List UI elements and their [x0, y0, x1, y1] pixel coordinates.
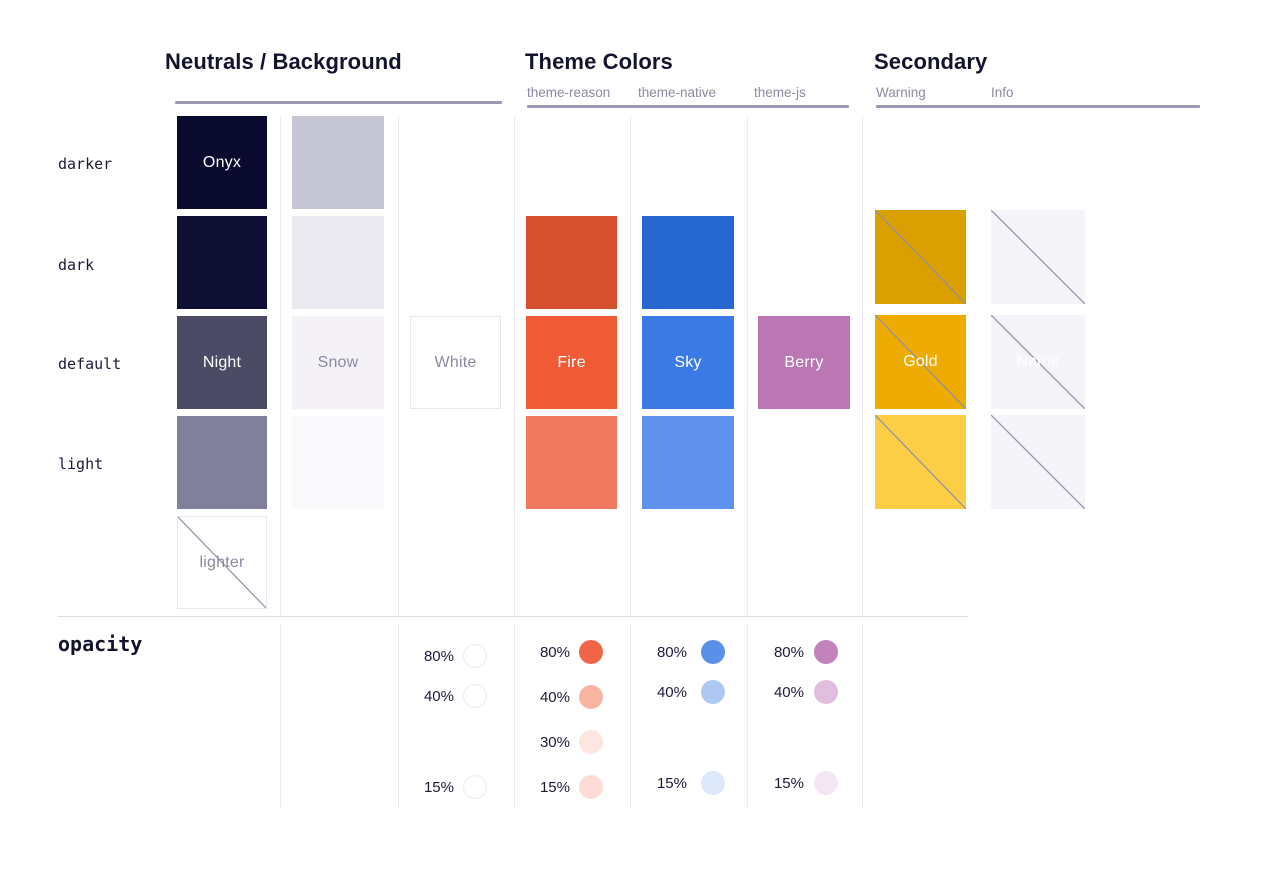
- section-title-neutrals: Neutrals / Background: [165, 49, 402, 75]
- swatch-onyx-default[interactable]: Night: [177, 316, 267, 409]
- opacity-pct-fire-80: 80%: [514, 644, 570, 661]
- opacity-pct-sky-15: 15%: [631, 775, 687, 792]
- opacity-dot-berry-40[interactable]: [814, 680, 838, 704]
- diagonal-slash-icon: [178, 517, 266, 608]
- swatch-white-default[interactable]: White: [410, 316, 501, 409]
- section-title-theme: Theme Colors: [525, 49, 673, 75]
- row-label-darker: darker: [58, 155, 112, 173]
- opacity-dot-fire-40[interactable]: [579, 685, 603, 709]
- opacity-pct-sky-80: 80%: [631, 644, 687, 661]
- row-label-dark: dark: [58, 256, 94, 274]
- sublabel-theme-native: theme-native: [638, 85, 716, 100]
- diagonal-slash-icon: [991, 210, 1085, 304]
- opacity-dot-sky-40[interactable]: [701, 680, 725, 704]
- swatch-gold-default[interactable]: Gold: [875, 315, 966, 409]
- swatch-label: Fire: [557, 354, 585, 372]
- opacity-dot-white-40[interactable]: [463, 684, 487, 708]
- sublabel-theme-reason: theme-reason: [527, 85, 610, 100]
- diagonal-slash-icon: [991, 315, 1085, 409]
- row-label-default: default: [58, 355, 121, 373]
- opacity-pct-fire-40: 40%: [514, 689, 570, 706]
- diagonal-slash-icon: [991, 415, 1085, 509]
- diagonal-slash-icon: [875, 415, 966, 509]
- swatch-sky-default[interactable]: Sky: [642, 316, 734, 409]
- sublabel-warning: Warning: [876, 85, 926, 100]
- swatch-label: Onyx: [203, 154, 241, 172]
- swatch-label-night: Night: [203, 354, 241, 372]
- opacity-dot-white-80[interactable]: [463, 644, 487, 668]
- opacity-section-divider: [58, 616, 968, 617]
- diagonal-slash-icon: [875, 315, 966, 409]
- diagonal-slash-icon: [875, 210, 966, 304]
- opacity-pct-berry-80: 80%: [748, 644, 804, 661]
- swatch-snow-darker[interactable]: [292, 116, 384, 209]
- opacity-pct-fire-30: 30%: [514, 734, 570, 751]
- swatch-snow-dark[interactable]: [292, 216, 384, 309]
- swatch-label: Berry: [784, 354, 823, 372]
- swatch-gold-light[interactable]: [875, 415, 966, 509]
- grid-divider: [630, 116, 631, 616]
- section-rule-neutrals: [175, 101, 502, 104]
- palette-canvas: Neutrals / Background Theme Colors theme…: [0, 0, 1280, 872]
- grid-divider: [280, 624, 281, 808]
- opacity-dot-sky-15[interactable]: [701, 771, 725, 795]
- swatch-label: Snow: [318, 354, 359, 372]
- opacity-dot-berry-80[interactable]: [814, 640, 838, 664]
- swatch-berry-default[interactable]: Berry: [758, 316, 850, 409]
- grid-divider: [862, 116, 863, 616]
- sublabel-theme-js: theme-js: [754, 85, 806, 100]
- swatch-fire-light[interactable]: [526, 416, 617, 509]
- swatch-label: Sky: [674, 354, 701, 372]
- sublabel-info: Info: [991, 85, 1014, 100]
- section-rule-theme: [527, 105, 849, 108]
- swatch-label: lighter: [200, 554, 245, 572]
- swatch-snow-default[interactable]: Snow: [292, 316, 384, 409]
- section-title-secondary: Secondary: [874, 49, 987, 75]
- swatch-fire-default[interactable]: Fire: [526, 316, 617, 409]
- opacity-heading: opacity: [58, 632, 142, 656]
- swatch-onyx-lighter-empty[interactable]: lighter: [177, 516, 267, 609]
- swatch-label: Gold: [903, 353, 938, 371]
- opacity-pct-white-80: 80%: [398, 648, 454, 665]
- row-label-light: light: [58, 455, 103, 473]
- swatch-sky-dark[interactable]: [642, 216, 734, 309]
- swatch-label: White: [435, 354, 477, 372]
- grid-divider: [398, 116, 399, 616]
- opacity-dot-sky-80[interactable]: [701, 640, 725, 664]
- swatch-info-light[interactable]: [991, 415, 1085, 509]
- opacity-pct-fire-15: 15%: [514, 779, 570, 796]
- swatch-onyx-dark[interactable]: [177, 216, 267, 309]
- swatch-label: Name: [1016, 353, 1059, 371]
- swatch-onyx-light[interactable]: [177, 416, 267, 509]
- swatch-gold-dark[interactable]: [875, 210, 966, 304]
- opacity-dot-berry-15[interactable]: [814, 771, 838, 795]
- swatch-fire-dark[interactable]: [526, 216, 617, 309]
- swatch-info-dark[interactable]: [991, 210, 1085, 304]
- swatch-sky-light[interactable]: [642, 416, 734, 509]
- opacity-pct-sky-40: 40%: [631, 684, 687, 701]
- swatch-snow-light[interactable]: [292, 416, 384, 509]
- opacity-dot-fire-30[interactable]: [579, 730, 603, 754]
- opacity-pct-berry-40: 40%: [748, 684, 804, 701]
- grid-divider: [862, 624, 863, 808]
- opacity-dot-white-15[interactable]: [463, 775, 487, 799]
- grid-divider: [747, 116, 748, 616]
- grid-divider: [514, 116, 515, 616]
- swatch-onyx-darker[interactable]: Onyx: [177, 116, 267, 209]
- opacity-dot-fire-15[interactable]: [579, 775, 603, 799]
- opacity-pct-berry-15: 15%: [748, 775, 804, 792]
- opacity-dot-fire-80[interactable]: [579, 640, 603, 664]
- swatch-info-default[interactable]: Name: [991, 315, 1085, 409]
- opacity-pct-white-15: 15%: [398, 779, 454, 796]
- opacity-pct-white-40: 40%: [398, 688, 454, 705]
- section-rule-secondary: [876, 105, 1200, 108]
- grid-divider: [280, 116, 281, 616]
